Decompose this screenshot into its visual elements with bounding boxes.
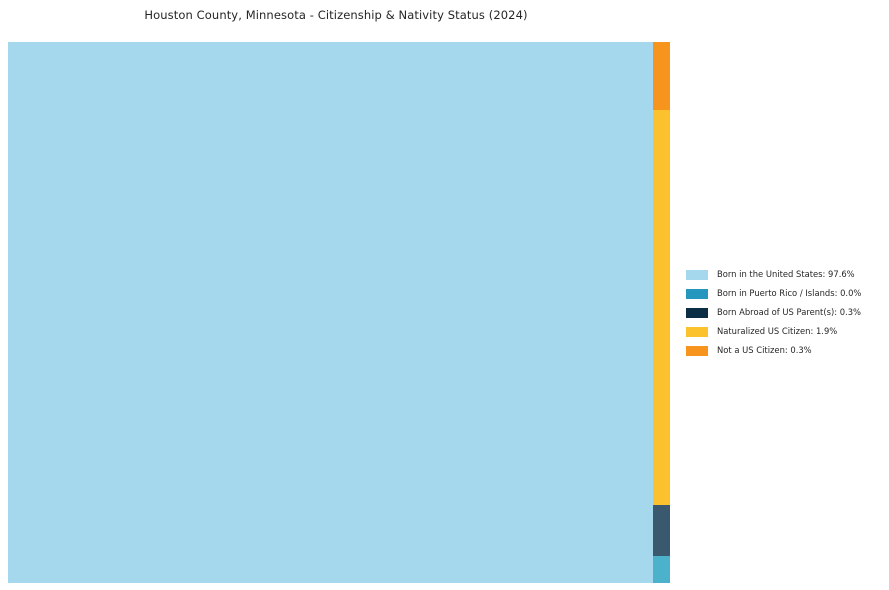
legend-label-born-in-puerto-rico-islands: Born in Puerto Rico / Islands: 0.0% (717, 289, 861, 297)
page-title: Houston County, Minnesota - Citizenship … (0, 8, 672, 22)
legend-swatch-born-in-puerto-rico-islands (686, 289, 708, 299)
legend-item-naturalized-us-citizen[interactable]: Naturalized US Citizen: 1.9% (686, 322, 882, 341)
legend-swatch-naturalized-us-citizen (686, 327, 708, 337)
legend-label-naturalized-us-citizen: Naturalized US Citizen: 1.9% (717, 327, 837, 335)
legend-label-born-in-the-united-states: Born in the United States: 97.6% (717, 270, 855, 278)
legend-swatch-born-in-the-united-states (686, 270, 708, 280)
treemap-tile-born-in-the-united-states[interactable] (8, 42, 653, 583)
treemap-tile-naturalized-us-citizen[interactable] (653, 110, 670, 505)
legend-item-born-in-the-united-states[interactable]: Born in the United States: 97.6% (686, 265, 882, 284)
legend-label-born-abroad-of-us-parents: Born Abroad of US Parent(s): 0.3% (717, 308, 861, 316)
treemap-column-born-in-us (8, 42, 653, 583)
treemap-plot-area (8, 42, 670, 583)
legend-item-not-a-us-citizen[interactable]: Not a US Citizen: 0.3% (686, 341, 882, 360)
treemap-tile-born-abroad-of-us-parents[interactable] (653, 505, 670, 556)
legend-swatch-born-abroad-of-us-parents (686, 308, 708, 318)
legend-swatch-not-a-us-citizen (686, 346, 708, 356)
legend-item-born-in-puerto-rico-islands[interactable]: Born in Puerto Rico / Islands: 0.0% (686, 284, 882, 303)
legend-item-born-abroad-of-us-parents[interactable]: Born Abroad of US Parent(s): 0.3% (686, 303, 882, 322)
treemap-column-other-statuses (653, 42, 670, 583)
treemap-tile-born-in-puerto-rico-islands[interactable] (653, 556, 670, 583)
treemap-tile-not-a-us-citizen[interactable] (653, 42, 670, 110)
chart-legend: Born in the United States: 97.6% Born in… (686, 265, 882, 360)
legend-label-not-a-us-citizen: Not a US Citizen: 0.3% (717, 346, 812, 354)
